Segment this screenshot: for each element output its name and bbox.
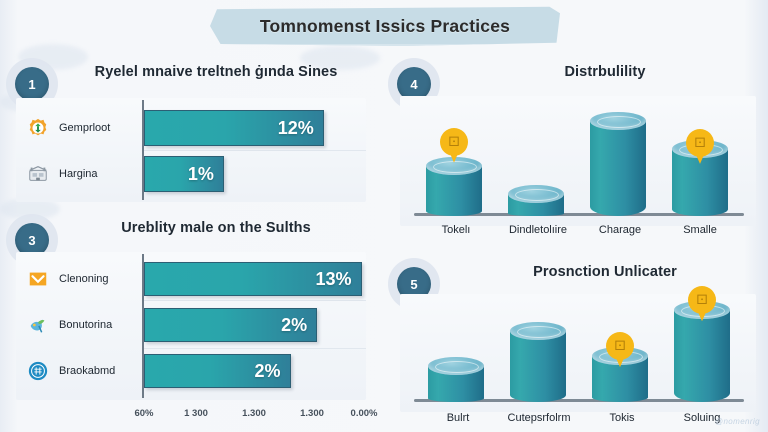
circle-emblem-icon <box>26 359 50 383</box>
pin-glyph: ⚀ <box>688 286 716 314</box>
panel-4-title: Distrbulility <box>452 64 758 80</box>
watermark: @nomenrig <box>715 417 760 426</box>
bar-value: 13% <box>316 269 361 290</box>
cylinder-top <box>508 185 564 203</box>
bar-value: 1% <box>188 164 223 185</box>
bar-track: 13% <box>144 262 366 296</box>
bar-row[interactable]: Hargina <box>26 156 144 192</box>
building-icon <box>26 162 50 186</box>
category-label: Cutepsrfolrm <box>492 412 586 424</box>
cylinder-bar[interactable]: ⚀ <box>674 310 730 402</box>
panel-4: 4 Distrbulility ⚀ <box>382 54 768 252</box>
infographic-canvas: Tomnomenst Issics Practices 1 Ryelel mna… <box>0 0 768 432</box>
cylinder-bar[interactable] <box>508 194 564 216</box>
gridline <box>144 150 366 151</box>
gridline <box>144 348 366 349</box>
coin-pin-icon[interactable]: ⚀ <box>440 128 468 164</box>
x-tick: 1 300 <box>184 408 208 419</box>
cylinder-plot: ⚀ <box>414 104 744 216</box>
category-label: Bulrt <box>416 412 500 424</box>
title-banner: Tomnomenst Issics Practices <box>210 6 560 46</box>
panel-4-chart-area: ⚀ <box>400 96 756 226</box>
category-label: Dindletolıire <box>492 224 584 236</box>
x-tick: 60% <box>134 408 153 419</box>
bird-icon <box>26 313 50 337</box>
cylinder-bar[interactable]: ⚀ <box>426 166 482 216</box>
category-label: Tokelı <box>414 224 498 236</box>
cylinder-body <box>590 121 646 216</box>
bar[interactable]: 2% <box>144 354 291 388</box>
bar[interactable]: 1% <box>144 156 224 192</box>
bar-label: Clenoning <box>59 273 109 285</box>
panel-5-chart-area: ⚀ ⚀ Bulrt Cutepsrfolrm Tokis Soluing <box>400 294 756 412</box>
bar[interactable]: 12% <box>144 110 324 146</box>
bar-label: Hargina <box>59 168 98 180</box>
cylinder-top <box>590 112 646 130</box>
panel-3-title: Ureblity male on the Sulths <box>62 220 370 236</box>
gridline <box>144 300 366 301</box>
category-label: Tokis <box>580 412 664 424</box>
badge-number: 1 <box>15 67 49 101</box>
envelope-check-icon <box>26 267 50 291</box>
cylinder-body <box>674 310 730 402</box>
cylinder-top <box>510 322 566 340</box>
category-label: Smalle <box>658 224 742 236</box>
bar-value: 2% <box>281 315 316 336</box>
bar-track: 2% <box>144 308 366 342</box>
cylinder-body <box>510 331 566 402</box>
panel-5: 5 Prosnction Unlicater <box>382 254 768 432</box>
pin-glyph: ⚀ <box>606 332 634 360</box>
bar[interactable]: 13% <box>144 262 362 296</box>
x-tick: 0.00% <box>351 408 378 419</box>
page-title: Tomnomenst Issics Practices <box>260 16 510 37</box>
bar-label: Bonutorina <box>59 319 112 331</box>
pin-glyph: ⚀ <box>686 129 714 157</box>
bar-track: 2% <box>144 354 366 388</box>
coin-pin-icon[interactable]: ⚀ <box>606 332 634 368</box>
bar-value: 12% <box>278 118 323 139</box>
cylinder-bar[interactable]: ⚀ <box>672 149 728 216</box>
cylinder-bar[interactable] <box>510 331 566 402</box>
cylinder-bar[interactable] <box>428 366 484 402</box>
bar-value: 2% <box>255 361 290 382</box>
bar-row[interactable]: Braokabmd <box>26 354 144 388</box>
panel-1: 1 Ryelel mnaive treltneh ġında Sines Gem… <box>0 54 380 204</box>
bar-row[interactable]: Clenoning <box>26 262 144 296</box>
pin-glyph: ⚀ <box>440 128 468 156</box>
x-tick: 1.300 <box>300 408 324 419</box>
panel-5-title: Prosnction Unlicater <box>452 264 758 280</box>
coin-pin-icon[interactable]: ⚀ <box>688 286 716 322</box>
panel-1-chart-area: Gemprloot 12% <box>16 98 366 202</box>
bar-label: Gemprloot <box>59 122 110 134</box>
recycle-badge-icon <box>26 116 50 140</box>
bar-row[interactable]: Gemprloot <box>26 110 144 146</box>
bar-track: 12% <box>144 110 366 146</box>
cylinder-bar[interactable] <box>590 121 646 216</box>
bar-track: 1% <box>144 156 366 192</box>
bar-label: Braokabmd <box>59 365 115 377</box>
panel-1-title: Ryelel mnaive treltneh ġında Sines <box>62 64 370 80</box>
x-tick: 1.300 <box>242 408 266 419</box>
panel-3: 3 Ureblity male on the Sulths Clenoning … <box>0 210 380 432</box>
coin-pin-icon[interactable]: ⚀ <box>686 129 714 165</box>
category-label: Charage <box>578 224 662 236</box>
cylinder-plot: ⚀ ⚀ <box>414 300 744 402</box>
bar-row[interactable]: Bonutorina <box>26 308 144 342</box>
cylinder-bar[interactable]: ⚀ <box>592 356 648 402</box>
bar[interactable]: 2% <box>144 308 317 342</box>
panel-3-x-axis: 60% 1 300 1.300 1.300 0.00% <box>16 400 366 426</box>
panel-3-chart-area: Clenoning 13% Bonutorina <box>16 252 366 400</box>
